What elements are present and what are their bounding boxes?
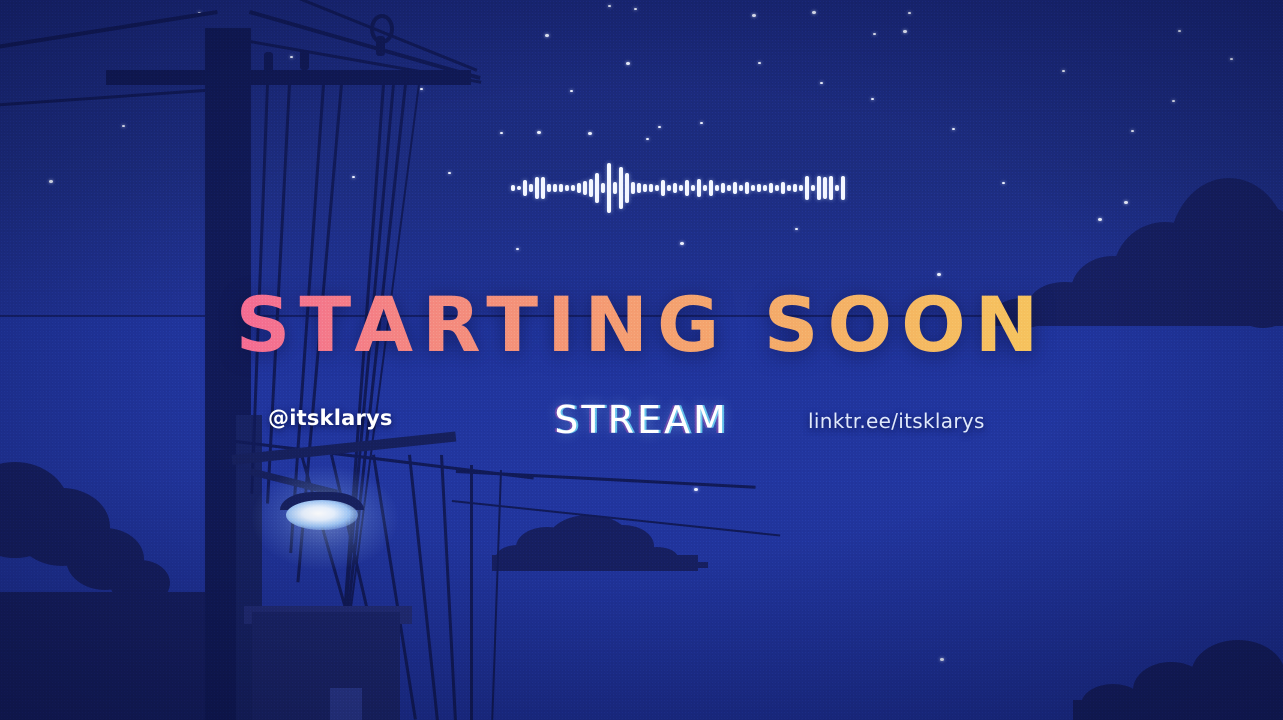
waveform-bar	[793, 184, 797, 192]
waveform-bar	[829, 176, 833, 200]
waveform-bar	[577, 183, 581, 193]
waveform-bar	[541, 177, 545, 199]
waveform-bar	[511, 185, 515, 191]
waveform-bar	[745, 182, 749, 194]
waveform-bar	[601, 183, 605, 193]
waveform-bar	[835, 185, 839, 191]
waveform-bar	[823, 177, 827, 199]
waveform-bar	[775, 185, 779, 191]
waveform-bar	[649, 184, 653, 192]
waveform-bar	[733, 182, 737, 194]
waveform-bar	[739, 185, 743, 191]
waveform-bar	[673, 183, 677, 193]
waveform-bar	[559, 184, 563, 192]
waveform-bar	[751, 185, 755, 191]
waveform-bar	[757, 184, 761, 192]
waveform-bar	[697, 179, 701, 197]
shed-window	[330, 688, 362, 720]
linktree-url[interactable]: linktr.ee/itsklarys	[808, 409, 985, 433]
waveform-bar	[643, 184, 647, 192]
waveform-bar	[535, 177, 539, 199]
waveform-bar	[811, 185, 815, 191]
waveform-bar	[727, 185, 731, 191]
waveform-bar	[685, 180, 689, 196]
waveform-bar	[553, 184, 557, 192]
waveform-bar	[637, 183, 641, 193]
waveform-bar	[661, 180, 665, 196]
street-lamp-light	[286, 500, 358, 530]
waveform-bar	[655, 185, 659, 191]
waveform-bar	[799, 185, 803, 191]
waveform-bar	[547, 184, 551, 192]
stream-subtitle: STREAM	[0, 398, 1283, 442]
waveform-bar	[763, 185, 767, 191]
waveform-bar	[589, 179, 593, 197]
waveform-bar	[817, 176, 821, 200]
pole-crossarm	[106, 70, 471, 85]
shed-body	[252, 612, 400, 720]
waveform-bar	[841, 176, 845, 200]
audio-waveform-visualizer	[511, 160, 773, 216]
page-title: STARTING SOON	[0, 287, 1283, 363]
waveform-bar	[583, 181, 587, 195]
waveform-bar	[607, 163, 611, 213]
waveform-bar	[781, 182, 785, 194]
waveform-bar	[631, 182, 635, 194]
waveform-bar	[769, 183, 773, 193]
waveform-bar	[709, 180, 713, 196]
waveform-bar	[787, 185, 791, 191]
waveform-bar	[613, 182, 617, 194]
waveform-bar	[703, 185, 707, 191]
waveform-bar	[529, 184, 533, 192]
waveform-bar	[517, 186, 521, 190]
stream-starting-soon-screen: STARTING SOON @itsklarys STREAM linktr.e…	[0, 0, 1283, 720]
waveform-bar	[523, 180, 527, 196]
waveform-bar	[679, 185, 683, 191]
waveform-bar	[625, 173, 629, 203]
waveform-bar	[667, 185, 671, 191]
waveform-bar	[721, 183, 725, 193]
waveform-bar	[619, 167, 623, 209]
waveform-bar	[595, 173, 599, 203]
waveform-bar	[805, 176, 809, 200]
waveform-bar	[715, 185, 719, 191]
waveform-bar	[565, 185, 569, 191]
waveform-bar	[571, 185, 575, 191]
waveform-bar	[691, 185, 695, 191]
